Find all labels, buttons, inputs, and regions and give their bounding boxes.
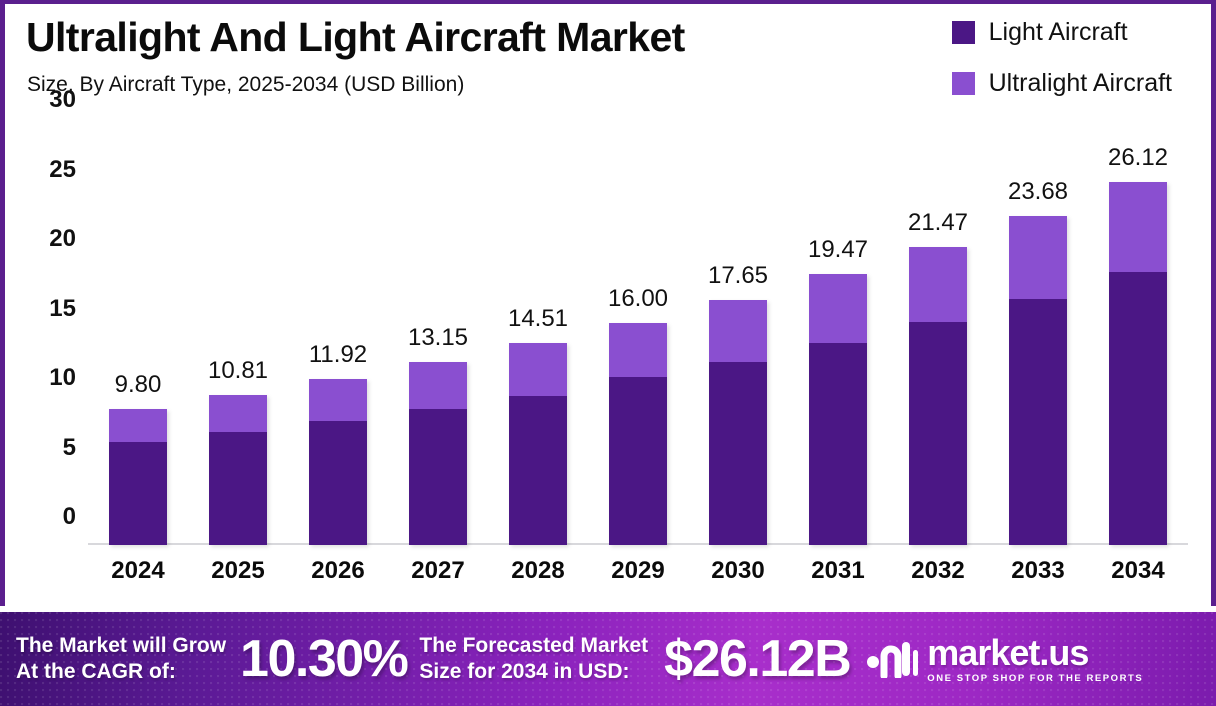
y-axis-tick-label: 25 <box>49 156 76 184</box>
bar-value-label: 14.51 <box>508 305 568 333</box>
legend-item[interactable]: Light Aircraft <box>952 18 1128 47</box>
bar-segment-light-aircraft[interactable] <box>909 322 967 545</box>
bar-group[interactable]: 9.80 <box>109 128 167 545</box>
forecast-size-label-line1: The Forecasted Market <box>419 633 648 659</box>
x-axis-label: 2029 <box>609 557 667 585</box>
cagr-label-line1: The Market will Grow <box>16 633 226 659</box>
stacked-bar[interactable] <box>709 300 767 545</box>
x-axis-label: 2030 <box>709 557 767 585</box>
x-axis-label: 2026 <box>309 557 367 585</box>
bar-group[interactable]: 14.51 <box>509 128 567 545</box>
bar-group[interactable]: 26.12 <box>1109 128 1167 545</box>
bar-segment-ultralight-aircraft[interactable] <box>209 395 267 433</box>
legend-item[interactable]: Ultralight Aircraft <box>952 69 1172 98</box>
bar-segment-light-aircraft[interactable] <box>509 396 567 545</box>
bar-value-label: 16.00 <box>608 285 668 313</box>
footer-banner: The Market will Grow At the CAGR of: 10.… <box>0 612 1216 706</box>
bar-segment-light-aircraft[interactable] <box>609 377 667 545</box>
bar-segment-light-aircraft[interactable] <box>1109 272 1167 545</box>
bar-segment-light-aircraft[interactable] <box>1009 299 1067 545</box>
legend-swatch-icon <box>952 21 975 44</box>
cagr-label-line2: At the CAGR of: <box>16 659 226 685</box>
stacked-bar[interactable] <box>209 395 267 545</box>
bar-group[interactable]: 23.68 <box>1009 128 1067 545</box>
bar-segment-ultralight-aircraft[interactable] <box>809 274 867 343</box>
cagr-value: 10.30% <box>240 629 407 689</box>
x-axis-label: 2034 <box>1109 557 1167 585</box>
bar-series: 9.8010.8111.9213.1514.5116.0017.6519.472… <box>88 128 1188 545</box>
legend-swatch-icon <box>952 72 975 95</box>
logo-name: market.us <box>927 635 1088 671</box>
bar-value-label: 23.68 <box>1008 178 1068 206</box>
bar-segment-light-aircraft[interactable] <box>309 421 367 545</box>
bar-group[interactable]: 17.65 <box>709 128 767 545</box>
stacked-bar[interactable] <box>109 409 167 545</box>
page-title: Ultralight And Light Aircraft Market <box>26 14 685 61</box>
bar-group[interactable]: 21.47 <box>909 128 967 545</box>
bar-chart-logo-icon <box>866 636 918 683</box>
x-axis-label: 2025 <box>209 557 267 585</box>
stacked-bar[interactable] <box>509 343 567 545</box>
x-axis-labels: 2024202520262027202820292030203120322033… <box>88 557 1188 585</box>
bar-group[interactable]: 11.92 <box>309 128 367 545</box>
forecast-size-value: $26.12B <box>664 629 850 689</box>
bar-value-label: 17.65 <box>708 262 768 290</box>
bar-segment-ultralight-aircraft[interactable] <box>909 247 967 322</box>
x-axis-label: 2032 <box>909 557 967 585</box>
stacked-bar[interactable] <box>609 323 667 545</box>
bar-segment-ultralight-aircraft[interactable] <box>309 379 367 421</box>
stacked-bar[interactable] <box>909 247 967 545</box>
bar-group[interactable]: 13.15 <box>409 128 467 545</box>
stacked-bar[interactable] <box>309 379 367 545</box>
market-us-logo[interactable]: market.us ONE STOP SHOP FOR THE REPORTS <box>866 635 1143 684</box>
bar-segment-ultralight-aircraft[interactable] <box>609 323 667 378</box>
bar-segment-ultralight-aircraft[interactable] <box>1109 182 1167 272</box>
bar-segment-ultralight-aircraft[interactable] <box>109 409 167 442</box>
bar-segment-ultralight-aircraft[interactable] <box>709 300 767 362</box>
bar-value-label: 21.47 <box>908 209 968 237</box>
bar-segment-ultralight-aircraft[interactable] <box>409 362 467 409</box>
legend-label: Ultralight Aircraft <box>989 69 1172 98</box>
y-axis-tick-label: 0 <box>63 503 76 531</box>
bar-value-label: 11.92 <box>309 341 367 369</box>
bar-value-label: 10.81 <box>208 357 268 385</box>
left-border <box>0 0 5 606</box>
chart-page: Ultralight And Light Aircraft Market Siz… <box>0 0 1216 706</box>
stacked-bar[interactable] <box>409 362 467 545</box>
bar-segment-light-aircraft[interactable] <box>209 432 267 545</box>
x-axis-label: 2028 <box>509 557 567 585</box>
bar-value-label: 19.47 <box>808 236 868 264</box>
bar-group[interactable]: 10.81 <box>209 128 267 545</box>
y-axis-tick-label: 15 <box>49 295 76 323</box>
forecast-size-label-line2: Size for 2034 in USD: <box>419 659 648 685</box>
bar-value-label: 13.15 <box>408 324 468 352</box>
x-axis-label: 2033 <box>1009 557 1067 585</box>
bar-value-label: 26.12 <box>1108 144 1168 172</box>
cagr-label: The Market will Grow At the CAGR of: <box>16 633 226 684</box>
legend-label: Light Aircraft <box>989 18 1128 47</box>
y-axis-tick-label: 20 <box>49 225 76 253</box>
bar-group[interactable]: 19.47 <box>809 128 867 545</box>
logo-text: market.us ONE STOP SHOP FOR THE REPORTS <box>927 635 1143 684</box>
page-subtitle: Size, By Aircraft Type, 2025-2034 (USD B… <box>27 73 464 97</box>
bar-value-label: 9.80 <box>115 371 162 399</box>
chart-legend: Light AircraftUltralight Aircraft <box>952 18 1172 98</box>
logo-tagline: ONE STOP SHOP FOR THE REPORTS <box>927 674 1143 684</box>
bar-segment-ultralight-aircraft[interactable] <box>509 343 567 396</box>
bar-segment-light-aircraft[interactable] <box>809 343 867 545</box>
x-axis-label: 2027 <box>409 557 467 585</box>
y-axis-tick-label: 30 <box>49 86 76 114</box>
right-border <box>1211 0 1216 606</box>
bar-segment-light-aircraft[interactable] <box>709 362 767 545</box>
bar-segment-light-aircraft[interactable] <box>109 442 167 545</box>
forecast-size-label: The Forecasted Market Size for 2034 in U… <box>419 633 648 684</box>
bar-segment-ultralight-aircraft[interactable] <box>1009 216 1067 299</box>
bar-group[interactable]: 16.00 <box>609 128 667 545</box>
x-axis-label: 2024 <box>109 557 167 585</box>
stacked-bar[interactable] <box>1109 182 1167 545</box>
stacked-bar[interactable] <box>1009 216 1067 545</box>
stacked-bar[interactable] <box>809 274 867 545</box>
plot-area: 302520151050 9.8010.8111.9213.1514.5116.… <box>88 128 1188 545</box>
y-axis-tick-label: 5 <box>63 434 76 462</box>
x-axis-label: 2031 <box>809 557 867 585</box>
y-axis-tick-label: 10 <box>49 364 76 392</box>
bar-segment-light-aircraft[interactable] <box>409 409 467 545</box>
top-border <box>0 0 1216 4</box>
